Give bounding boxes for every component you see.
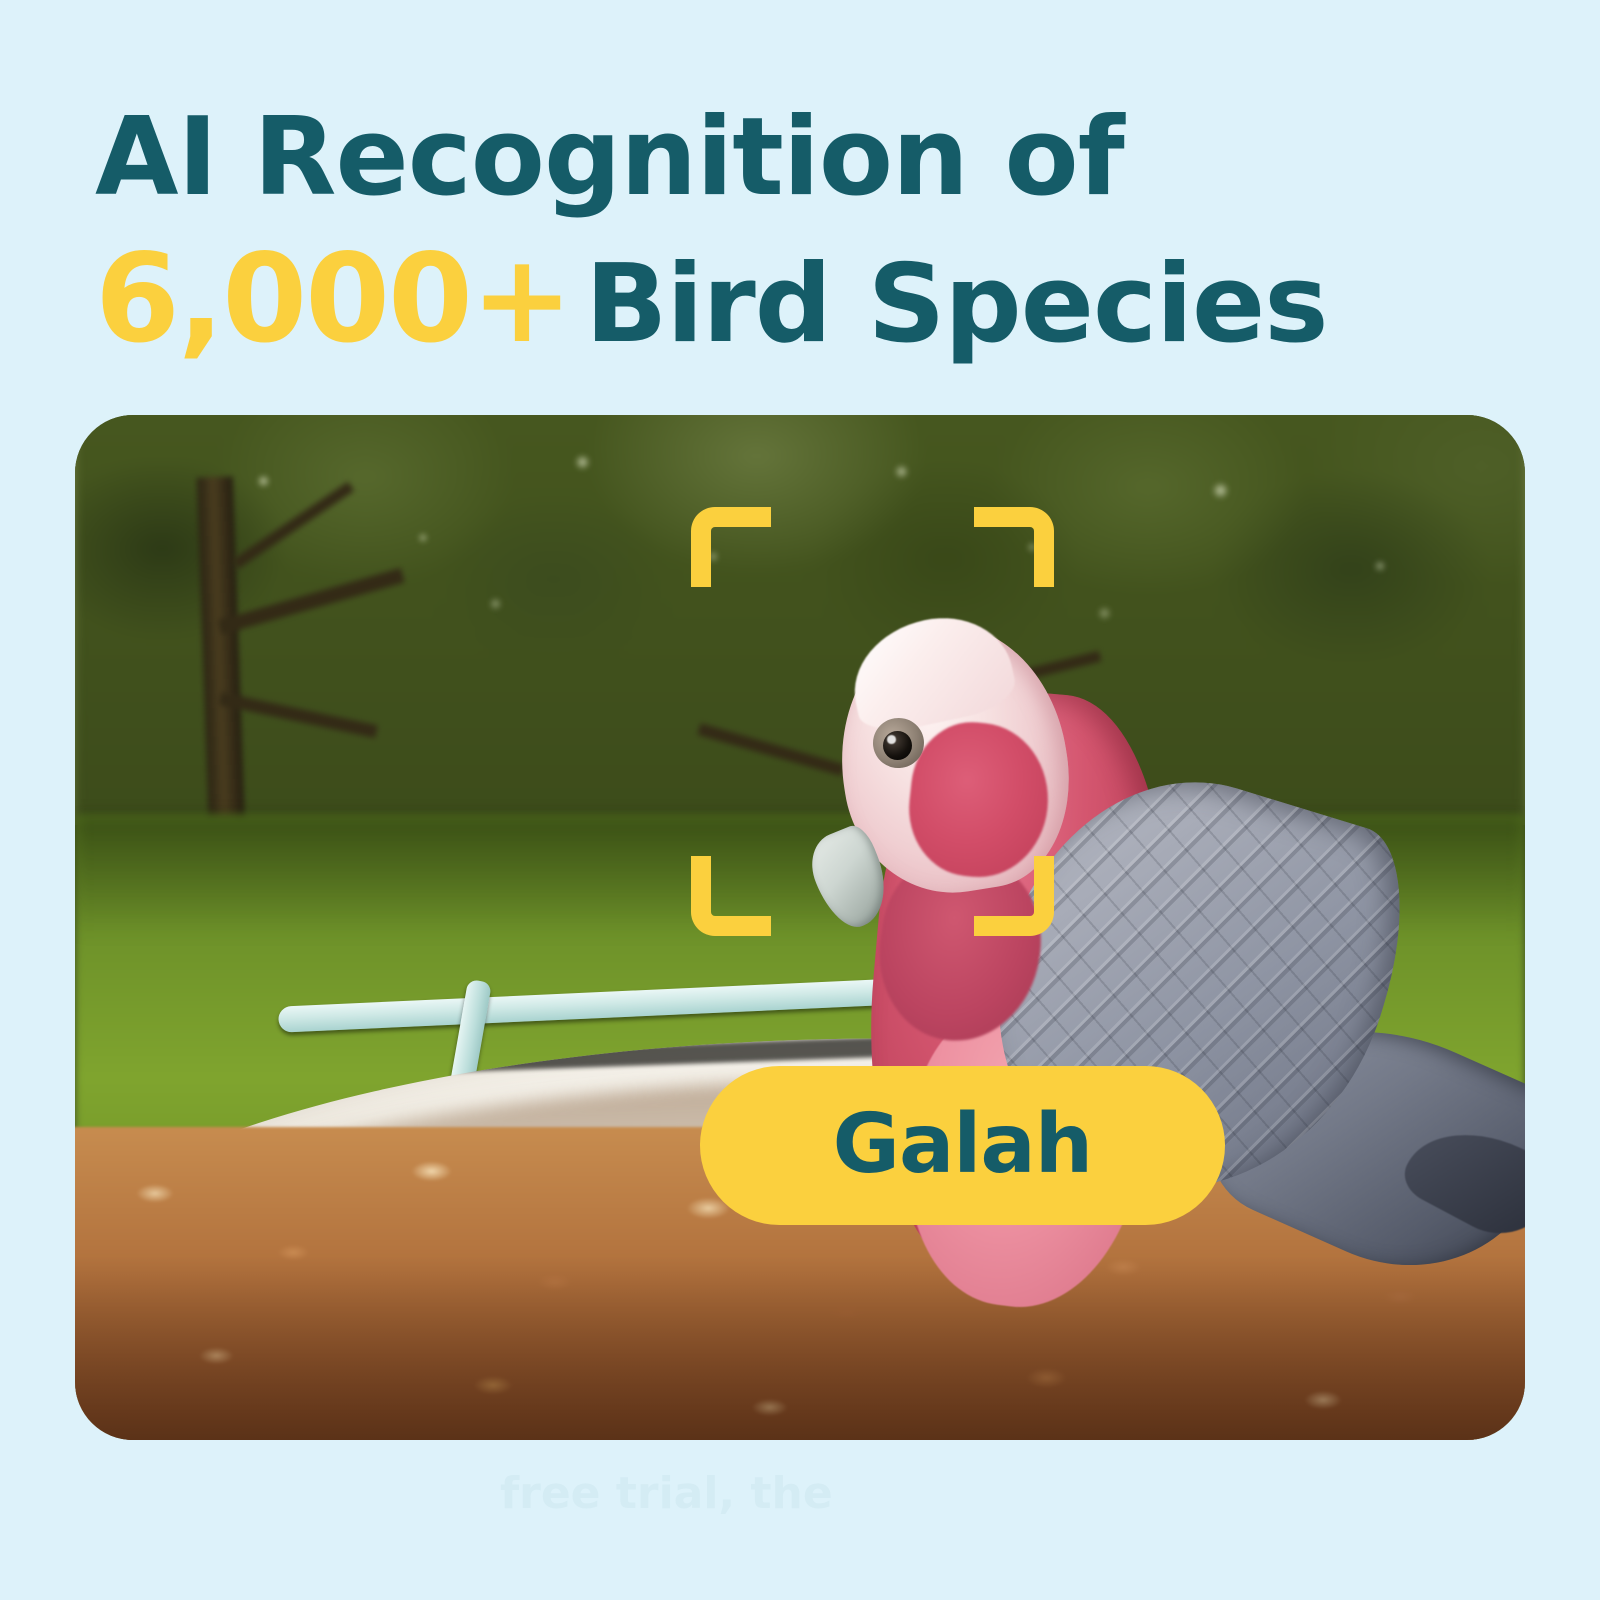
headline-block: AI Recognition of 6,000+Bird Species [95, 88, 1535, 379]
focus-bracket-bottom-right-icon [974, 856, 1054, 936]
headline-line-1: AI Recognition of [95, 88, 1535, 228]
headline-line-2: 6,000+Bird Species [95, 220, 1535, 379]
galah-bird [75, 415, 1525, 1440]
species-badge-label: Galah [833, 1104, 1092, 1186]
focus-bracket-bottom-left-icon [691, 856, 771, 936]
headline-line-2-rest: Bird Species [585, 242, 1327, 367]
focus-bracket-top-left-icon [691, 507, 771, 587]
bird-camera-photo-card[interactable]: Galah [75, 415, 1525, 1440]
watermark-text: free trial, the [500, 1468, 1100, 1519]
species-count: 6,000+ [95, 228, 571, 370]
focus-bracket-top-right-icon [974, 507, 1054, 587]
bird-eye-glint [887, 735, 896, 744]
camera-scene [75, 415, 1525, 1440]
species-badge[interactable]: Galah [700, 1066, 1225, 1225]
